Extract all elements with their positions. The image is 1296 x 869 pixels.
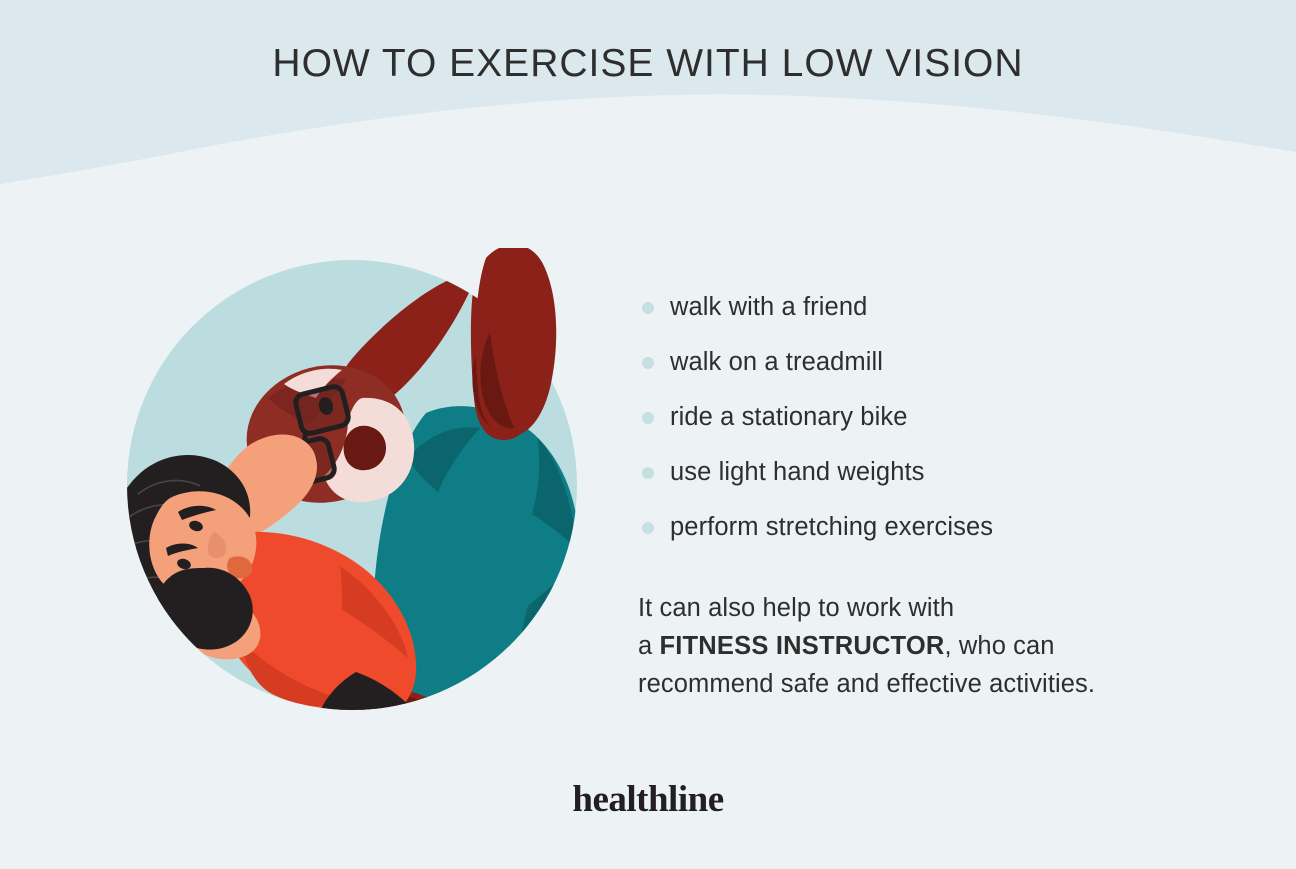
woman-hair-front [157,568,253,650]
bullet-dot-icon [642,467,654,479]
man-trousers-shadow [403,696,464,728]
paragraph-line3: recommend safe and effective activities. [638,670,1095,698]
bullet-dot-icon [642,302,654,314]
two-people-stretching-illustration [108,248,608,728]
list-item-label: walk on a treadmill [670,348,883,377]
healthline-logo: healthline [0,778,1296,821]
list-item: perform stretching exercises [638,500,1198,555]
list-item: walk with a friend [638,280,1198,335]
page-title: HOW TO EXERCISE WITH LOW VISION [0,42,1296,86]
list-item-label: perform stretching exercises [670,513,993,542]
list-item: ride a stationary bike [638,390,1198,445]
list-item: walk on a treadmill [638,335,1198,390]
infographic-canvas: HOW TO EXERCISE WITH LOW VISION [0,0,1296,869]
list-item-label: use light hand weights [670,458,925,487]
list-item-label: ride a stationary bike [670,403,908,432]
list-item-label: walk with a friend [670,293,867,322]
bullet-dot-icon [642,357,654,369]
bullet-dot-icon [642,522,654,534]
list-item: use light hand weights [638,445,1198,500]
exercise-list: walk with a friend walk on a treadmill r… [638,280,1198,555]
man-mouth [344,426,386,471]
paragraph-emphasis: FITNESS INSTRUCTOR [659,632,944,660]
paragraph-line2-suffix: , who can [945,632,1055,660]
closing-paragraph: It can also help to work witha FITNESS I… [638,589,1158,703]
paragraph-lead: It can also help to work with [638,594,954,622]
paragraph-line2-prefix: a [638,632,659,660]
bullet-dot-icon [642,412,654,424]
content-column: walk with a friend walk on a treadmill r… [638,280,1198,703]
